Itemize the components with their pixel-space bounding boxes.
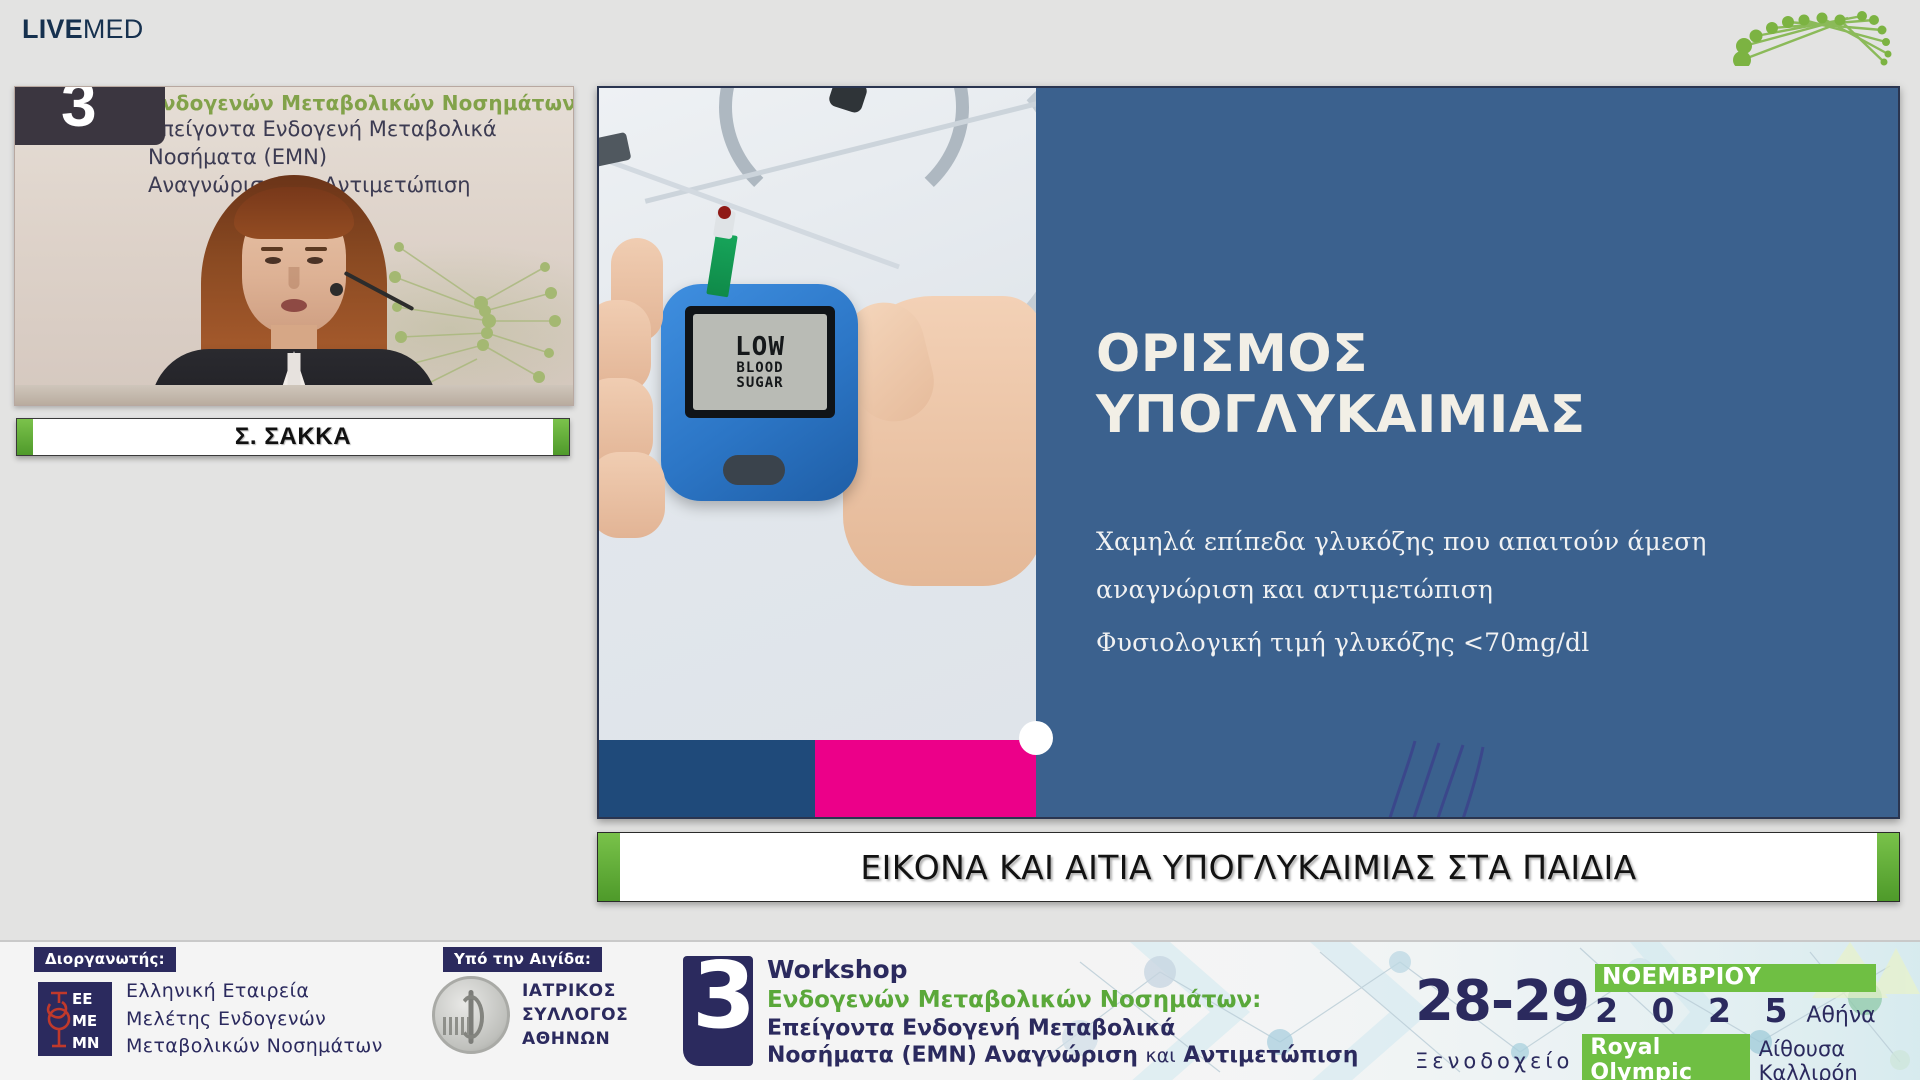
aegis-block: ΙΑΤΡΙΚΟΣ ΣΥΛΛΟΓΟΣ ΑΘΗΝΩΝ (432, 976, 628, 1054)
event-footer: Διοργανωτής: Υπό την Αιγίδα: ΕΕ ΜΕ ΜΝ Ελ… (0, 940, 1920, 1080)
eemmn-logo-icon: ΕΕ ΜΕ ΜΝ (38, 982, 112, 1056)
dark-object (599, 132, 631, 168)
eye-left (265, 257, 281, 264)
name-accent-right (553, 419, 569, 455)
workshop-line-4a: Νοσήματα (ΕΜΝ) Αναγνώριση (767, 1043, 1138, 1068)
workshop-line-4b: και (1146, 1045, 1176, 1067)
organizer-block: ΕΕ ΜΕ ΜΝ Ελληνική Εταιρεία Μελέτης Ενδογ… (38, 978, 383, 1061)
event-date-row-1: 28-29 ΝΟΕΜΒΡΙΟΥ 2 0 2 5 Αθήνα (1415, 964, 1920, 1027)
caption-accent-right (1877, 833, 1899, 901)
workshop-lines: Workshop Ενδογενών Μεταβολικών Νοσημάτων… (767, 956, 1358, 1070)
organizer-name-line2: Μελέτης Ενδογενών (126, 1006, 383, 1034)
event-city: Αθήνα (1806, 1005, 1875, 1027)
event-month: ΝΟΕΜΒΡΙΟΥ (1595, 964, 1876, 992)
temple-columns (443, 1017, 469, 1035)
aegis-name-line1: ΙΑΤΡΙΚΟΣ (522, 979, 628, 1003)
workshop-line-4: Νοσήματα (ΕΜΝ) Αναγνώριση και Αντιμετώπι… (767, 1043, 1358, 1070)
podium-desk (15, 385, 573, 405)
hand-left (599, 238, 691, 538)
venue-label: Ξενοδοχείο (1415, 1049, 1573, 1073)
glucometer-button (723, 455, 785, 485)
eyebrow-left (261, 247, 283, 251)
aegis-name-line3: ΑΘΗΝΩΝ (522, 1027, 628, 1051)
organizer-tag: Διοργανωτής: (34, 947, 176, 972)
event-venue-row: Ξενοδοχείο Royal Olympic Αίθουσα Καλλιρό… (1415, 1034, 1920, 1080)
top-bar: LIVEMED (0, 0, 1920, 68)
caption-text: ΕΙΚΟΝΑ ΚΑΙ ΑΙΤΙΑ ΥΠΟΓΛΥΚΑΙΜΙΑΣ ΣΤΑ ΠΑΙΔΙ… (620, 848, 1877, 887)
eyebrow-right (305, 247, 327, 251)
dna-network-decoration-icon (1722, 2, 1902, 66)
slide-caption-bar: ΕΙΚΟΝΑ ΚΑΙ ΑΙΤΙΑ ΥΠΟΓΛΥΚΑΙΜΙΑΣ ΣΤΑ ΠΑΙΔΙ… (597, 832, 1900, 902)
meter-reading-line3: SUGAR (736, 376, 783, 391)
poster-line-1: Επείγοντα Ενδογενή Μεταβολικά (148, 117, 497, 141)
speaker-person (144, 165, 444, 406)
glucometer-screen-frame: LOW BLOOD SUGAR (685, 306, 835, 418)
workshop-line-2: Ενδογενών Μεταβολικών Νοσημάτων: (767, 986, 1358, 1015)
livemed-logo: LIVEMED (22, 16, 143, 43)
organizer-name-line3: Μεταβολικών Νοσημάτων (126, 1033, 383, 1061)
meter-reading-line2: BLOOD (736, 361, 783, 376)
eye-right (307, 257, 323, 264)
slide-body-line-2: Φυσιολογική τιμή γλυκόζης <70mg/dl (1096, 628, 1836, 657)
mouth (281, 299, 307, 312)
workshop-line-1: Workshop (767, 956, 1358, 984)
aegis-tag: Υπό την Αιγίδα: (443, 947, 602, 972)
event-month-year: ΝΟΕΜΒΡΙΟΥ 2 0 2 5 Αθήνα (1595, 964, 1876, 1027)
workshop-line-4c: Αντιμετώπιση (1183, 1043, 1358, 1068)
speaker-name: Σ. ΣΑΚΚΑ (33, 423, 553, 451)
poster-subtitle-green: Ενδογενών Μεταβολικών Νοσημάτων: (148, 91, 574, 115)
glucometer-screen: LOW BLOOD SUGAR (693, 314, 827, 410)
workshop-title-block: 3 ο Workshop Ενδογενών Μεταβολικών Νοσημ… (683, 956, 1358, 1070)
slide-text-area: ΟΡΙΣΜΟΣ ΥΠΟΓΛΥΚΑΙΜΙΑΣ Χαμηλά επίπεδα γλυ… (1036, 88, 1898, 817)
event-date-block: 28-29 ΝΟΕΜΒΡΙΟΥ 2 0 2 5 Αθήνα Ξενοδοχείο… (1415, 964, 1920, 1080)
eemmn-logo-line3: ΜΝ (72, 1034, 99, 1052)
event-days: 28-29 (1415, 976, 1589, 1028)
workshop-ordinal-suffix: ο (735, 970, 747, 992)
slide-title: ΟΡΙΣΜΟΣ ΥΠΟΓΛΥΚΑΙΜΙΑΣ (1096, 324, 1796, 447)
venue-name: Royal Olympic (1582, 1034, 1749, 1080)
caption-accent-left (598, 833, 620, 901)
eemmn-logo-line2: ΜΕ (72, 1012, 97, 1030)
slide-squiggle-decoration-icon (1379, 733, 1529, 819)
event-year-row: 2 0 2 5 Αθήνα (1595, 994, 1876, 1027)
meter-reading-line1: LOW (735, 334, 785, 361)
aegis-name-line2: ΣΥΛΛΟΓΟΣ (522, 1003, 628, 1027)
eemmn-logo-line1: ΕΕ (72, 990, 93, 1008)
speaker-name-bar: Σ. ΣΑΚΚΑ (16, 418, 570, 456)
presentation-slide[interactable]: LOW BLOOD SUGAR ΟΡΙΣΜΟΣ ΥΠΟΓΛΥΚΑΙΜΙΑΣ Χα… (597, 86, 1900, 819)
aegis-name: ΙΑΤΡΙΚΟΣ ΣΥΛΛΟΓΟΣ ΑΘΗΝΩΝ (522, 979, 628, 1051)
event-year: 2 0 2 5 (1595, 994, 1798, 1027)
brand-live: LIVE (22, 14, 83, 44)
slide-body-line-1: Χαμηλά επίπεδα γλυκόζης που απαιτούν άμε… (1096, 518, 1856, 613)
brand-med: MED (83, 14, 144, 44)
medical-association-seal-icon (432, 976, 510, 1054)
workshop-ordinal-number: 3 (692, 950, 756, 1042)
workshop-ordinal-badge: 3 ο (683, 956, 753, 1066)
organizer-name: Ελληνική Εταιρεία Μελέτης Ενδογενών Μετα… (126, 978, 383, 1061)
finger-pinky (599, 452, 665, 538)
speaker-video-panel[interactable]: Ενδογενών Μεταβολικών Νοσημάτων: Επείγον… (14, 86, 574, 406)
microphone-head-icon (330, 283, 343, 296)
name-accent-left (17, 419, 33, 455)
slide-photo-glucometer: LOW BLOOD SUGAR (599, 88, 1036, 740)
workshop-line-3: Επείγοντα Ενδογενή Μεταβολικά (767, 1016, 1358, 1043)
venue-hall: Αίθουσα Καλλιρόη (1759, 1037, 1920, 1080)
organizer-name-line1: Ελληνική Εταιρεία (126, 978, 383, 1006)
slide-accent-bar-navy (599, 740, 815, 819)
poster-number-badge: 3 (15, 86, 165, 145)
nose (289, 267, 300, 289)
slide-accent-bar-pink (815, 740, 1036, 819)
blood-drop (718, 206, 731, 219)
poster-number: 3 (61, 86, 97, 141)
